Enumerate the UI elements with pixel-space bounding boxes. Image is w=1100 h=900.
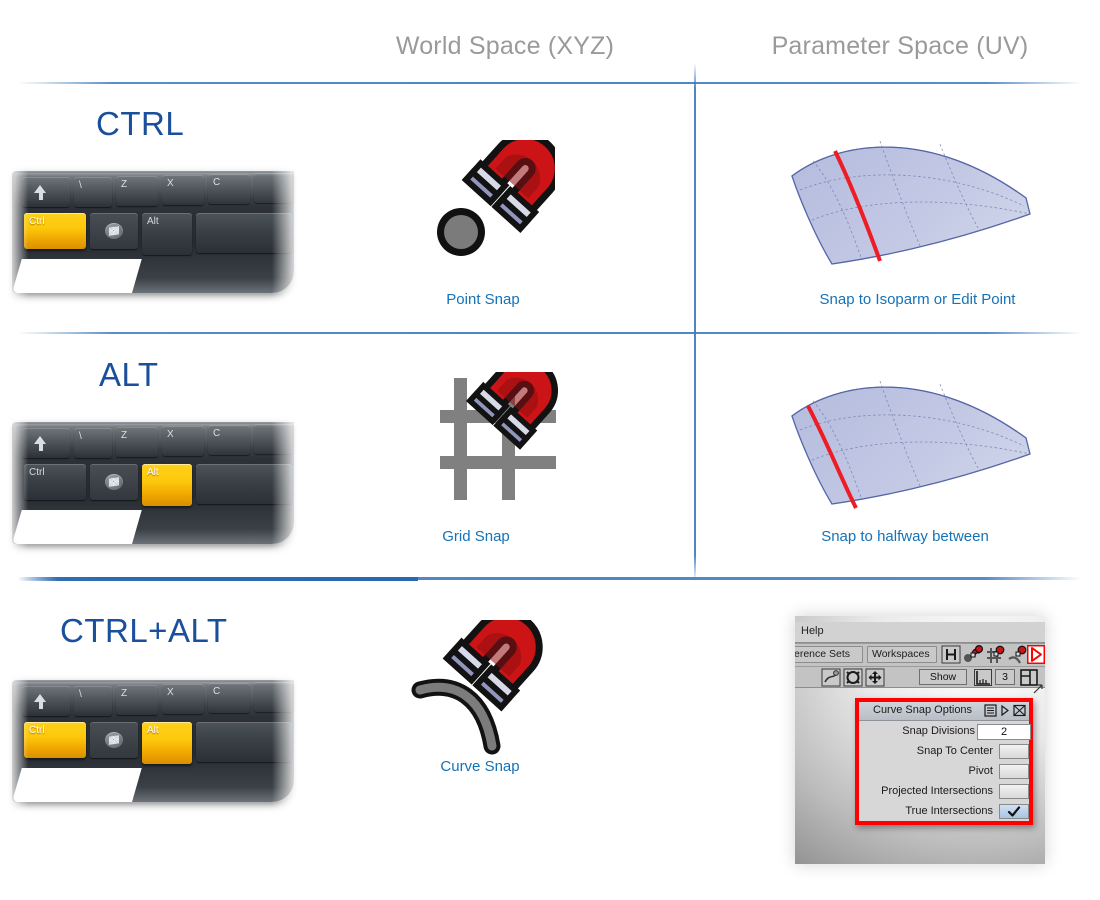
expand-triangle-icon[interactable]: [998, 704, 1011, 717]
caption-snap-to-isoparm: Snap to Isoparm or Edit Point: [740, 291, 1095, 308]
key-shift: [22, 428, 70, 458]
key-x: X: [162, 426, 204, 456]
checkbox-true-intersections[interactable]: [999, 804, 1029, 819]
window-title-bar: Curve Snap Options: [859, 702, 1029, 721]
snap-to-live-icon[interactable]: [821, 668, 841, 687]
label-pivot: Pivot: [969, 765, 993, 777]
menu-icon[interactable]: [984, 704, 997, 717]
nurbs-surface-isoparm: [780, 128, 1040, 278]
maya-tab-bar: erence Sets Workspaces: [795, 643, 1045, 667]
play-triangle-icon[interactable]: [1027, 645, 1045, 664]
key-x: X: [162, 684, 204, 714]
caption-point-snap: Point Snap: [383, 291, 583, 308]
key-v: [254, 424, 294, 454]
caption-curve-snap: Curve Snap: [380, 758, 580, 775]
column-header-parameter-space: Parameter Space (UV): [720, 32, 1080, 61]
label-snap-divisions: Snap Divisions: [902, 725, 975, 737]
grid-snap-icon: [418, 372, 558, 507]
window-title: Curve Snap Options: [873, 704, 972, 716]
nurbs-surface-halfway: [780, 368, 1040, 518]
divider-middle: [18, 332, 1082, 334]
row-title-ctrl-alt: CTRL+ALT: [60, 612, 228, 650]
key-windows: [90, 464, 138, 500]
option-row-pivot: Pivot: [859, 762, 1037, 782]
maya-menu-bar: Help: [795, 622, 1045, 643]
key-c: C: [208, 425, 250, 455]
key-z: Z: [116, 685, 158, 715]
caption-grid-snap: Grid Snap: [376, 528, 576, 545]
key-windows: [90, 722, 138, 758]
snap-modifier-reference-page: World Space (XYZ) Parameter Space (UV) C…: [0, 0, 1100, 900]
divider-vertical-column: [694, 63, 696, 581]
keyboard-ctrl-alt: \ Z X C Ctrl Alt: [8, 672, 298, 817]
key-ctrl: Ctrl: [24, 464, 86, 500]
keyboard-ctrl: \ Z X C Ctrl Alt: [8, 163, 298, 308]
h-toggle-icon[interactable]: [941, 645, 961, 664]
label-true-intersections: True Intersections: [905, 805, 993, 817]
input-snap-divisions[interactable]: 2: [977, 724, 1031, 740]
key-alt: Alt: [142, 213, 192, 255]
point-snap-icon[interactable]: [963, 645, 983, 664]
key-v: [254, 682, 294, 712]
key-ctrl-highlighted: Ctrl: [24, 213, 86, 249]
key-x: X: [162, 175, 204, 205]
resize-grip-icon[interactable]: [1033, 684, 1043, 694]
select-by-component-icon[interactable]: [843, 668, 863, 687]
tab-reference-sets[interactable]: erence Sets: [795, 646, 863, 663]
menu-item-help[interactable]: Help: [801, 625, 824, 637]
point-snap-icon: [425, 140, 555, 270]
divisions-field[interactable]: 3: [995, 669, 1015, 685]
tab-workspaces[interactable]: Workspaces: [867, 646, 937, 663]
curve-snap-icon[interactable]: [1007, 645, 1027, 664]
key-backslash: \: [74, 428, 112, 458]
key-c: C: [208, 174, 250, 204]
row-title-ctrl: CTRL: [96, 105, 184, 143]
option-row-snap-to-center: Snap To Center: [859, 742, 1037, 762]
ruler-icon[interactable]: [973, 668, 993, 687]
checkbox-projected-intersections[interactable]: [999, 784, 1029, 799]
key-backslash: \: [74, 177, 112, 207]
key-z: Z: [116, 176, 158, 206]
keyboard-alt: \ Z X C Ctrl Alt: [8, 414, 298, 559]
key-alt-highlighted: Alt: [142, 722, 192, 764]
key-space: [196, 464, 292, 504]
move-tool-icon[interactable]: [865, 668, 885, 687]
key-v: [254, 173, 294, 203]
key-ctrl-highlighted: Ctrl: [24, 722, 86, 758]
option-row-snap-divisions: Snap Divisions 2: [859, 722, 1037, 742]
option-row-true-intersections: True Intersections: [859, 802, 1037, 822]
key-space: [196, 722, 292, 762]
divider-bottom-accent: [18, 577, 418, 581]
key-z: Z: [116, 427, 158, 457]
label-projected-intersections: Projected Intersections: [881, 785, 993, 797]
maya-curve-snap-options-screenshot: Help erence Sets Workspaces: [795, 616, 1045, 864]
curve-snap-options-window: Curve Snap Options: [855, 698, 1033, 825]
grid-snap-icon[interactable]: [985, 645, 1005, 664]
key-shift: [22, 686, 70, 716]
key-space: [196, 213, 292, 253]
label-snap-to-center: Snap To Center: [917, 745, 993, 757]
close-icon[interactable]: [1013, 704, 1026, 717]
key-windows: [90, 213, 138, 249]
checkbox-pivot[interactable]: [999, 764, 1029, 779]
row-title-alt: ALT: [99, 356, 159, 394]
maya-tool-bar: Show 3: [795, 666, 1045, 688]
curve-snap-icon: [410, 620, 550, 760]
key-shift: [22, 177, 70, 207]
checkbox-snap-to-center[interactable]: [999, 744, 1029, 759]
show-button[interactable]: Show: [919, 669, 967, 685]
option-row-projected-intersections: Projected Intersections: [859, 782, 1037, 802]
key-backslash: \: [74, 686, 112, 716]
key-alt-highlighted: Alt: [142, 464, 192, 506]
key-c: C: [208, 683, 250, 713]
divider-top: [18, 82, 1082, 84]
column-header-world-space: World Space (XYZ): [330, 32, 680, 61]
caption-snap-halfway: Snap to halfway between: [740, 528, 1070, 545]
